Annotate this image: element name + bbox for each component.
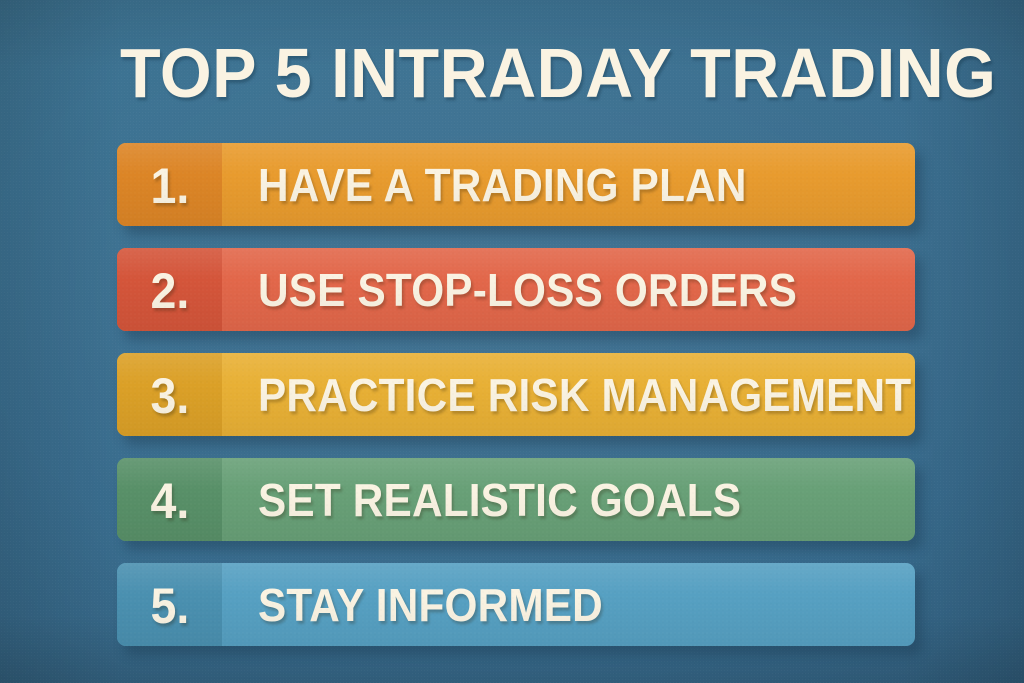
list-item-number: 5. — [150, 581, 189, 631]
list-item[interactable]: 1.HAVE A TRADING PLAN — [117, 143, 915, 226]
list-item-label-area: PRACTICE RISK MANAGEMENT — [222, 353, 915, 436]
list-item-label-area: USE STOP-LOSS ORDERS — [222, 248, 915, 331]
list-item-number-block: 3. — [117, 353, 222, 436]
list-item-number: 1. — [150, 161, 189, 211]
list-item-number: 2. — [150, 266, 189, 316]
tips-list: 1.HAVE A TRADING PLAN2.USE STOP-LOSS ORD… — [117, 143, 915, 646]
list-item-label: PRACTICE RISK MANAGEMENT — [258, 372, 911, 418]
list-item-label: STAY INFORMED — [258, 582, 603, 628]
list-item-label-area: HAVE A TRADING PLAN — [222, 143, 915, 226]
list-item-number-block: 1. — [117, 143, 222, 226]
list-item-number-block: 2. — [117, 248, 222, 331]
list-item[interactable]: 4.SET REALISTIC GOALS — [117, 458, 915, 541]
page-title: TOP 5 INTRADAY TRADING — [120, 36, 956, 110]
list-item-number-block: 5. — [117, 563, 222, 646]
list-item[interactable]: 3.PRACTICE RISK MANAGEMENT — [117, 353, 915, 436]
infographic-poster: TOP 5 INTRADAY TRADING 1.HAVE A TRADING … — [0, 0, 1024, 683]
list-item-number-block: 4. — [117, 458, 222, 541]
list-item[interactable]: 5.STAY INFORMED — [117, 563, 915, 646]
list-item[interactable]: 2.USE STOP-LOSS ORDERS — [117, 248, 915, 331]
list-item-number: 3. — [150, 371, 189, 421]
list-item-number: 4. — [150, 476, 189, 526]
list-item-label-area: STAY INFORMED — [222, 563, 915, 646]
list-item-label: USE STOP-LOSS ORDERS — [258, 267, 797, 313]
list-item-label: SET REALISTIC GOALS — [258, 477, 741, 523]
list-item-label-area: SET REALISTIC GOALS — [222, 458, 915, 541]
list-item-label: HAVE A TRADING PLAN — [258, 162, 747, 208]
